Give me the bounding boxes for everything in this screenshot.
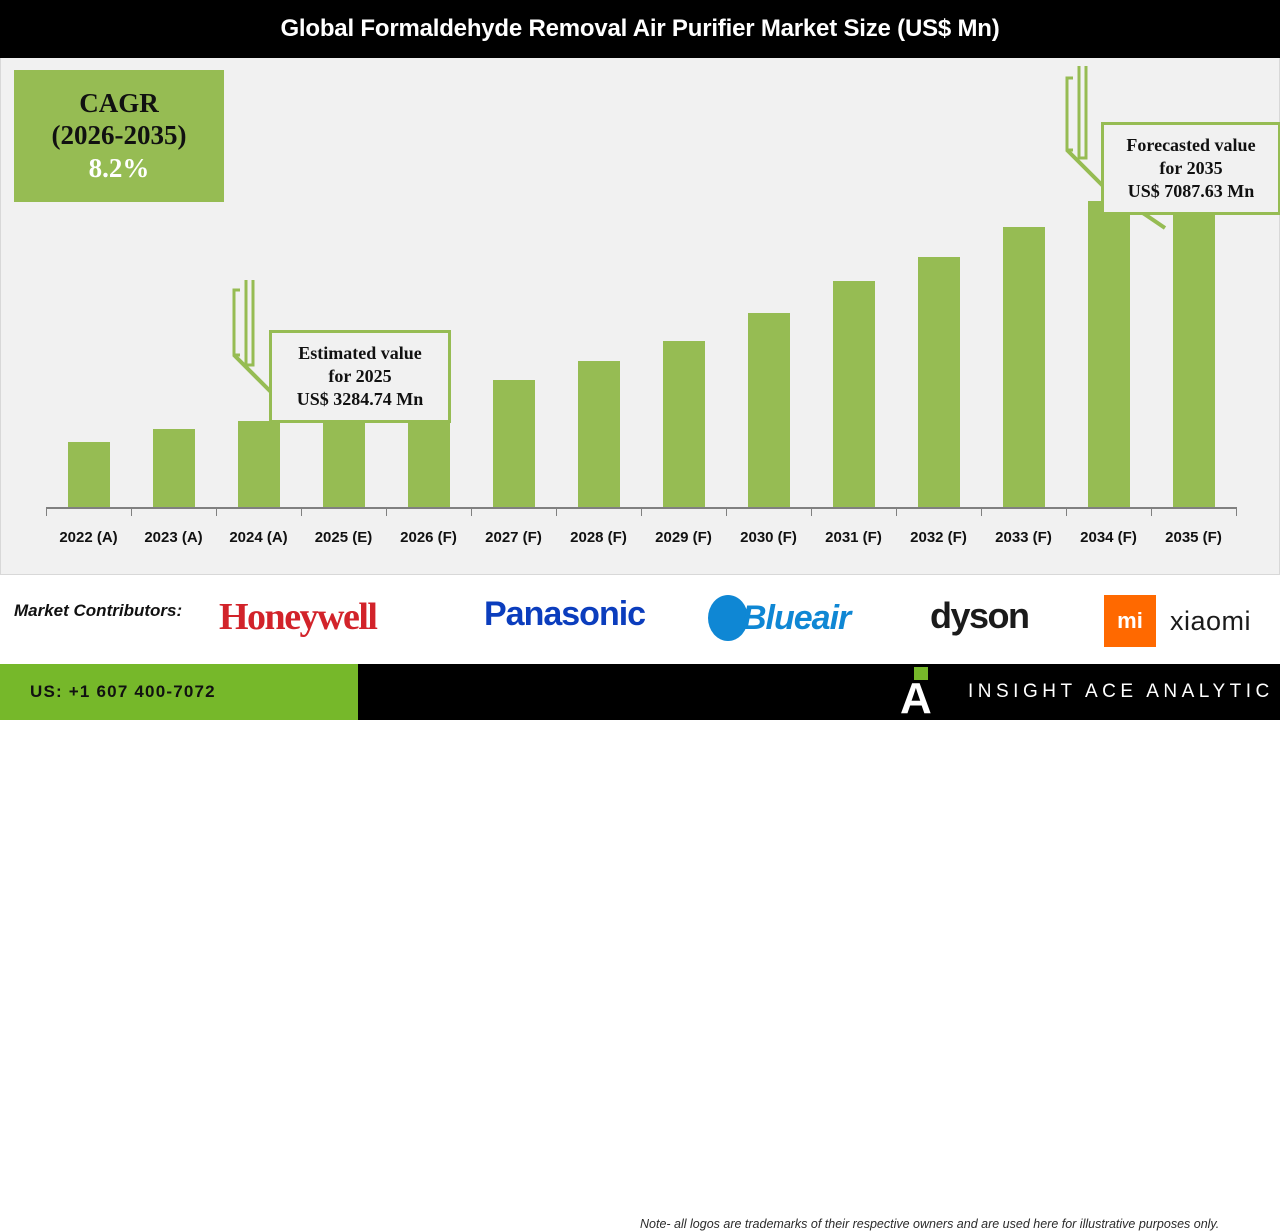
title-bar: Global Formaldehyde Removal Air Purifier… <box>0 0 1280 58</box>
forecasted-value-callout: Forecasted value for 2035 US$ 7087.63 Mn <box>1101 122 1280 215</box>
estimated-callout-line1: Estimated value <box>298 342 422 365</box>
logo-disclaimer-note: Note- all logos are trademarks of their … <box>640 1217 1276 1232</box>
forecasted-callout-line3: US$ 7087.63 Mn <box>1128 180 1255 203</box>
chart-panel: CAGR (2026-2035) 8.2% 2022 (A)2023 (A)20… <box>0 58 1280 574</box>
honeywell-logo: Honeywell <box>219 595 376 639</box>
forecasted-callout-line2: for 2035 <box>1159 157 1222 180</box>
phone-number: US: +1 607 400-7072 <box>30 682 216 702</box>
xiaomi-mi-mark-icon: mi <box>1104 595 1156 647</box>
forecasted-callout-leader <box>1 58 1280 574</box>
estimated-callout-line2: for 2025 <box>328 365 391 388</box>
estimated-value-callout: Estimated value for 2025 US$ 3284.74 Mn <box>269 330 451 423</box>
market-contributors-label: Market Contributors: <box>14 601 182 621</box>
footer-bar: US: +1 607 400-7072 A INSIGHT ACE ANALYT… <box>0 664 1280 720</box>
brand-block: A INSIGHT ACE ANALYTIC <box>900 664 1274 720</box>
estimated-callout-line3: US$ 3284.74 Mn <box>297 388 424 411</box>
dyson-logo-text: dyson <box>930 595 1029 637</box>
panasonic-logo-text: Panasonic <box>484 595 645 634</box>
xiaomi-logo-text: xiaomi <box>1170 606 1251 637</box>
forecasted-callout-line1: Forecasted value <box>1126 134 1255 157</box>
market-contributors-strip: Market Contributors: Honeywell Panasonic… <box>0 574 1280 664</box>
honeywell-logo-text: Honeywell <box>219 595 376 639</box>
logo-letter-a: A <box>900 681 932 717</box>
blueair-logo: Blueair <box>708 595 850 641</box>
blueair-logo-text: Blueair <box>742 599 850 638</box>
insightace-logo-icon: A <box>900 667 944 717</box>
xiaomi-logo: mi xiaomi <box>1104 595 1251 647</box>
brand-name: INSIGHT ACE ANALYTIC <box>968 681 1274 703</box>
page-title: Global Formaldehyde Removal Air Purifier… <box>280 15 999 43</box>
panasonic-logo: Panasonic <box>484 595 645 634</box>
phone-block[interactable]: US: +1 607 400-7072 <box>0 664 358 720</box>
dyson-logo: dyson <box>930 595 1029 637</box>
